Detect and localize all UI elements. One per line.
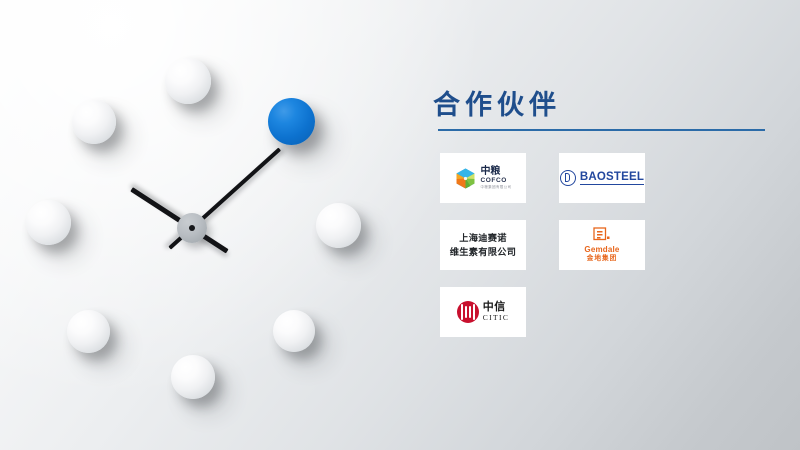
citic-name-en: CITIC xyxy=(483,314,510,322)
desano-wordmark: 上海迪赛诺 维生素有限公司 xyxy=(450,231,516,260)
marker-12 xyxy=(165,58,211,104)
cofco-name-cn: 中粮 xyxy=(480,167,511,177)
gemdale-mark-svg xyxy=(593,227,610,244)
marker-9 xyxy=(26,200,71,245)
marker-10 xyxy=(72,100,116,144)
partner-card-citic[interactable]: 中信 CITIC xyxy=(440,287,526,337)
citic-name-cn: 中信 xyxy=(483,302,510,314)
partner-card-desano[interactable]: 上海迪赛诺 维生素有限公司 xyxy=(440,220,526,270)
cofco-logo: 中粮 COFCO 中粮集团有限公司 xyxy=(454,167,511,190)
citic-wordmark: 中信 CITIC xyxy=(483,302,510,322)
gemdale-mark-icon xyxy=(593,227,610,244)
marker-1 xyxy=(268,98,315,145)
marker-6 xyxy=(171,355,215,399)
gemdale-name-cn: 金地集团 xyxy=(584,256,619,263)
slide-canvas: 合作伙伴 xyxy=(0,0,800,450)
partners-panel: 合作伙伴 xyxy=(430,92,780,337)
baosteel-emblem-icon xyxy=(560,170,576,186)
title-underline xyxy=(438,129,765,131)
partner-card-gemdale[interactable]: Gemdale 金地集团 xyxy=(559,220,645,270)
baosteel-name-en: BAOSTEEL xyxy=(580,171,644,185)
clock-center-pin xyxy=(189,225,195,231)
desano-line-2: 维生素有限公司 xyxy=(450,245,516,259)
citic-logo: 中信 CITIC xyxy=(457,301,510,323)
marker-8 xyxy=(67,310,110,353)
cofco-wordmark: 中粮 COFCO 中粮集团有限公司 xyxy=(480,167,511,189)
wall-clock-image xyxy=(0,0,410,450)
citic-emblem-icon xyxy=(457,301,479,323)
gemdale-name-en: Gemdale xyxy=(584,246,619,254)
cofco-name-en: COFCO xyxy=(480,178,511,185)
desano-line-1: 上海迪赛诺 xyxy=(450,231,516,245)
marker-3 xyxy=(316,203,361,248)
partner-card-cofco[interactable]: 中粮 COFCO 中粮集团有限公司 xyxy=(440,153,526,203)
partner-card-baosteel[interactable]: BAOSTEEL xyxy=(559,153,645,203)
cofco-tagline: 中粮集团有限公司 xyxy=(480,186,511,189)
page-title: 合作伙伴 xyxy=(430,92,780,119)
gemdale-logo: Gemdale 金地集团 xyxy=(584,227,619,263)
cofco-cube-icon xyxy=(454,167,477,190)
marker-4 xyxy=(273,310,315,352)
partner-logo-grid: 中粮 COFCO 中粮集团有限公司 BAOSTEEL 上海迪赛诺 维生素有限公司 xyxy=(440,153,760,337)
minute-hand xyxy=(191,148,281,230)
baosteel-logo: BAOSTEEL xyxy=(560,170,644,186)
cofco-cube-svg xyxy=(454,167,477,190)
